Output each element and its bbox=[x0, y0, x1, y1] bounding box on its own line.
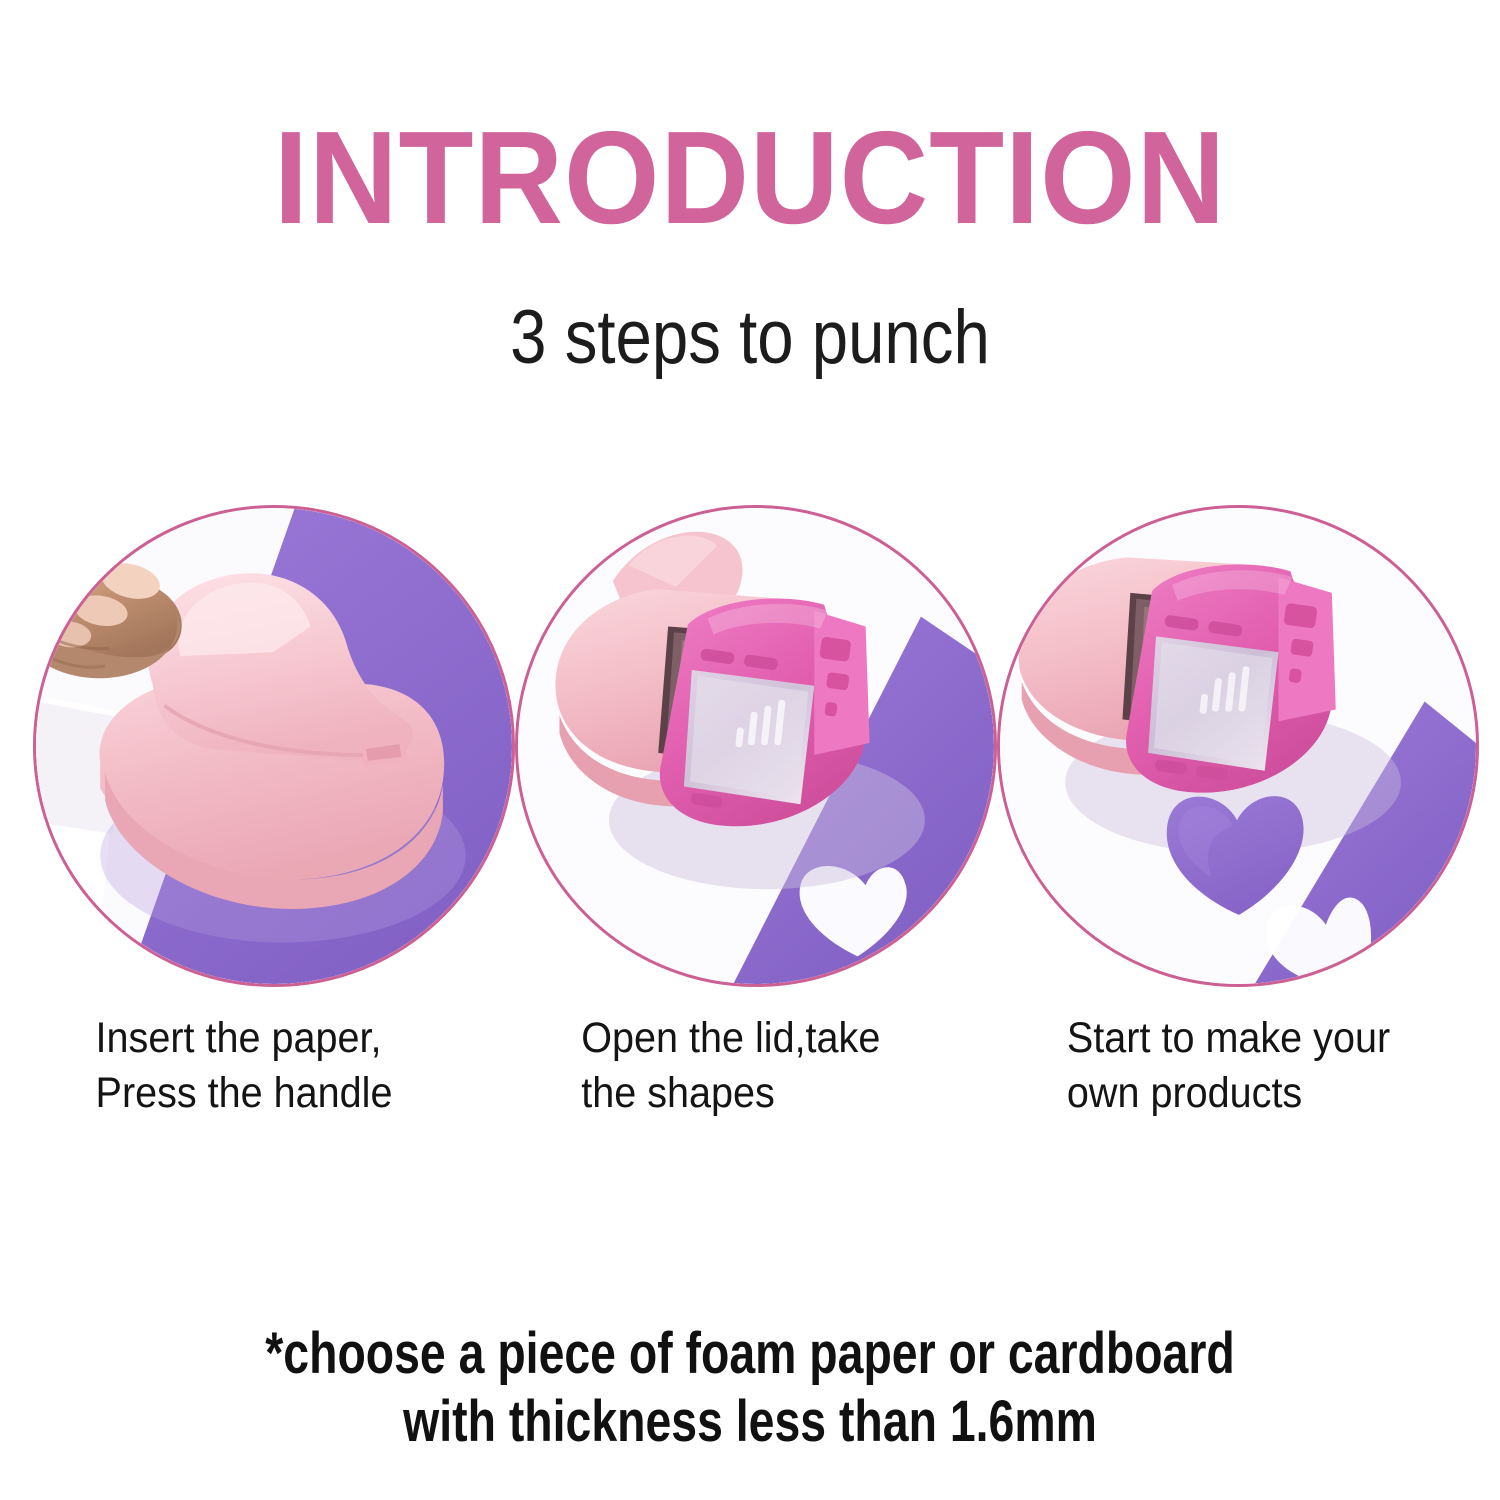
step-caption-2: Open the lid,take the shapes bbox=[515, 1011, 880, 1121]
page-subtitle: 3 steps to punch bbox=[105, 244, 1395, 376]
page-title: INTRODUCTION bbox=[53, 0, 1448, 244]
step-item-1: Insert the paper, Press the handle bbox=[33, 505, 515, 1121]
step-item-3: Start to make your own products bbox=[997, 505, 1479, 1121]
step-photo-1 bbox=[33, 505, 515, 987]
step-caption-1: Insert the paper, Press the handle bbox=[33, 1011, 392, 1121]
steps-row: Insert the paper, Press the handle bbox=[0, 505, 1500, 1121]
header: INTRODUCTION 3 steps to punch bbox=[0, 0, 1500, 376]
step-caption-3: Start to make your own products bbox=[997, 1011, 1390, 1121]
step-photo-3 bbox=[997, 505, 1479, 987]
step-photo-2 bbox=[515, 505, 997, 987]
step-item-2: Open the lid,take the shapes bbox=[515, 505, 997, 1121]
footnote-text: *choose a piece of foam paper or cardboa… bbox=[150, 1320, 1350, 1456]
